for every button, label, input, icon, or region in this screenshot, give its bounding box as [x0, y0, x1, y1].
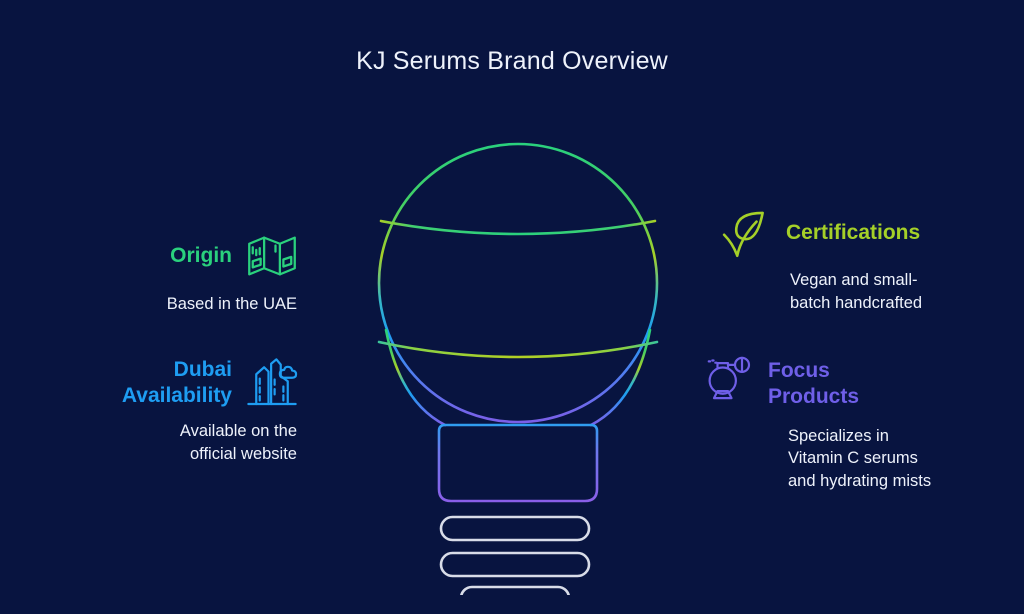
- feature-block-origin: Origin Based in the UAE: [60, 228, 300, 316]
- bulb-neck: [439, 425, 597, 501]
- feature-header-dubai: Dubai Availability: [60, 355, 300, 411]
- feature-title-certifications: Certifications: [786, 220, 920, 246]
- feature-header-focus-products: Focus Products: [700, 350, 970, 411]
- feature-description-dubai: Available on the official website: [60, 420, 297, 466]
- feature-block-certifications: Certifications Vegan and small- batch ha…: [718, 205, 968, 315]
- feature-title-dubai: Dubai Availability: [122, 357, 232, 410]
- bulb-thread-2: [441, 553, 589, 576]
- feature-title-focus-products: Focus Products: [768, 358, 859, 411]
- feature-header-certifications: Certifications: [718, 205, 968, 261]
- feature-description-origin: Based in the UAE: [60, 293, 297, 316]
- perfume-bottle-icon: [700, 350, 756, 406]
- feature-header-origin: Origin: [60, 228, 300, 284]
- page-title: KJ Serums Brand Overview: [0, 47, 1024, 76]
- feature-description-certifications: Vegan and small- batch handcrafted: [790, 269, 968, 315]
- bulb-divider-upper: [381, 221, 655, 234]
- feature-title-origin: Origin: [170, 243, 232, 269]
- feature-block-dubai: Dubai Availability Available on the of: [60, 355, 300, 466]
- leaf-icon: [718, 205, 774, 261]
- bulb-thread-3: [461, 587, 569, 595]
- infographic-canvas: KJ Serums Brand Overview Origin Based in…: [0, 0, 1024, 614]
- feature-description-focus-products: Specializes in Vitamin C serums and hydr…: [788, 425, 970, 493]
- bulb-thread-1: [441, 517, 589, 540]
- feature-block-focus-products: Focus Products Specializes in Vitamin C …: [700, 350, 970, 493]
- lightbulb-illustration: [355, 125, 675, 595]
- cityscape-icon: [244, 355, 300, 411]
- bulb-divider-lower: [379, 342, 657, 357]
- map-icon: [244, 228, 300, 284]
- bulb-globe: [379, 144, 657, 422]
